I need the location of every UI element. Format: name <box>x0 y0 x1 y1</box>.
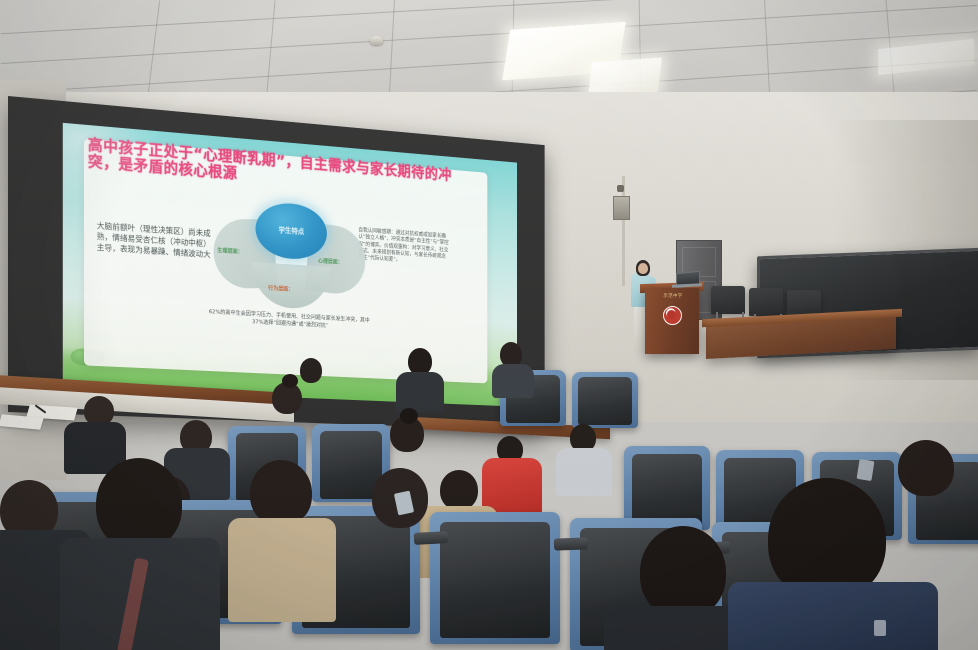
jacket-logo-icon <box>874 620 886 636</box>
seat-cushion <box>578 377 632 425</box>
stage-chair[interactable] <box>711 286 745 314</box>
attendee-body <box>556 448 612 496</box>
wall-sensor-icon <box>617 185 624 192</box>
diagram-label-physiological: 生理层面： <box>217 246 243 255</box>
diagram-core-circle: 学生特点 <box>256 201 327 261</box>
seat-cushion <box>632 454 702 526</box>
attendee-head <box>408 348 432 375</box>
seat-armrest <box>554 537 588 550</box>
auditorium-photo: 高中孩子正处于“心理断乳期”，自主需求与家长期待的冲突，是矛盾的核心根源 大脑前… <box>0 0 978 650</box>
attendee-head <box>300 358 322 383</box>
stage-chair[interactable] <box>749 288 783 316</box>
attendee-head <box>898 440 954 496</box>
podium-label: 示范中学 <box>652 293 694 299</box>
hair-bun <box>282 374 298 388</box>
slide-donut-diagram: 学生特点 生理层面： 心理层面： 行为层面： <box>214 196 366 320</box>
attendee-head <box>640 526 726 618</box>
seat-armrest <box>414 531 449 545</box>
seat-cushion <box>440 522 550 638</box>
speaker-head <box>638 263 648 274</box>
phone-screen[interactable] <box>857 459 875 481</box>
ceiling-light <box>588 57 662 96</box>
paper-sheet <box>0 414 44 429</box>
attendee-body <box>492 364 534 398</box>
attendee-head <box>96 458 182 550</box>
navy-jacket-foreground <box>728 582 938 650</box>
attendee-body <box>228 518 336 622</box>
slide-right-text: 自我认同敏感期：通过对抗权威或加家长确认“独立人格”，冲突本质是“自主性”与“掌… <box>358 228 449 268</box>
hair-bun <box>400 408 418 424</box>
attendee-head <box>440 470 478 510</box>
attendee-head <box>250 460 312 526</box>
smoke-detector-icon <box>370 36 383 45</box>
diagram-label-psychological: 心理层面： <box>318 257 343 266</box>
wall-control-box <box>613 196 630 220</box>
ceiling-light <box>878 39 973 75</box>
diagram-label-behavioral: 行为层面： <box>268 284 293 293</box>
attendee-body <box>396 372 444 412</box>
diagram-core-label: 学生特点 <box>256 201 327 261</box>
audience-seating <box>0 330 978 650</box>
school-crest-inner <box>667 310 676 319</box>
wall-conduit <box>622 176 625 286</box>
